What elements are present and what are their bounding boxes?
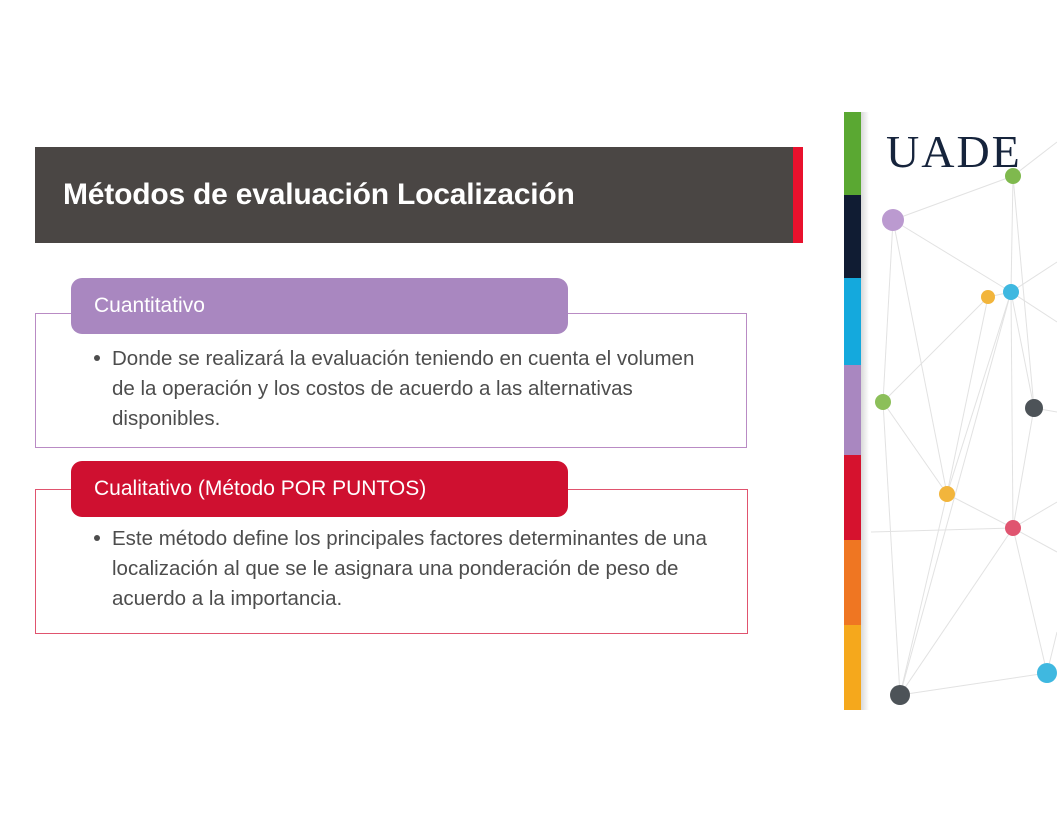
node-pink	[1005, 520, 1021, 536]
bullet-text: Donde se realizará la evaluación teniend…	[112, 347, 694, 430]
network-edge	[900, 292, 1011, 695]
bullet-dot-icon	[94, 355, 100, 361]
strip-segment-purple	[844, 365, 861, 455]
slide-canvas: Métodos de evaluación Localización Cuant…	[0, 0, 1057, 817]
title-banner-accent-bar	[793, 147, 803, 243]
network-edge	[883, 297, 988, 402]
content-block-qualitative: Cualitativo (Método POR PUNTOS) Este mét…	[35, 461, 749, 635]
node-gray-2	[890, 685, 910, 705]
network-edge	[900, 494, 947, 695]
network-edge	[900, 528, 1013, 695]
node-purple	[882, 209, 904, 231]
network-edge	[1013, 408, 1034, 528]
network-edge	[893, 176, 1013, 220]
brand-color-strip	[844, 112, 861, 710]
strip-segment-orange	[844, 540, 861, 625]
list-item: Este método define los principales facto…	[90, 524, 730, 614]
strip-segment-amber	[844, 625, 861, 710]
node-amber	[981, 290, 995, 304]
quantitative-heading: Cuantitativo	[71, 278, 568, 334]
network-edge	[947, 494, 1013, 528]
network-edge	[1011, 262, 1057, 292]
bullet-text: Este método define los principales facto…	[112, 527, 707, 610]
strip-segment-green	[844, 112, 861, 195]
qualitative-heading: Cualitativo (Método POR PUNTOS)	[71, 461, 568, 517]
network-edge	[883, 402, 947, 494]
node-amber-2	[939, 486, 955, 502]
list-item: Donde se realizará la evaluación teniend…	[90, 344, 710, 434]
strip-segment-navy	[844, 195, 861, 278]
network-graphic	[861, 112, 1057, 710]
node-green-2	[875, 394, 891, 410]
uade-logo: UADE	[886, 127, 1022, 177]
strip-segment-cyan	[844, 278, 861, 365]
qualitative-body: Este método define los principales facto…	[90, 524, 730, 614]
page-title: Métodos de evaluación Localización	[63, 147, 575, 243]
network-edge	[947, 292, 1011, 494]
network-edge	[893, 220, 947, 494]
network-edge	[1011, 176, 1013, 292]
network-edge	[1013, 528, 1047, 673]
network-edge	[900, 673, 1047, 695]
quantitative-body: Donde se realizará la evaluación teniend…	[90, 344, 710, 434]
network-edge	[1011, 292, 1034, 408]
bullet-dot-icon	[94, 535, 100, 541]
network-edge	[893, 220, 1011, 292]
content-block-quantitative: Cuantitativo Donde se realizará la evalu…	[35, 278, 747, 450]
node-cyan-1	[1003, 284, 1019, 300]
network-edge	[1011, 292, 1013, 528]
node-gray-1	[1025, 399, 1043, 417]
strip-segment-red	[844, 455, 861, 540]
network-edge	[883, 220, 893, 402]
network-edge	[1011, 292, 1057, 322]
network-edge	[947, 297, 988, 494]
network-edge	[883, 402, 900, 695]
network-edge	[871, 528, 1013, 532]
branding-panel: UADE	[843, 112, 1057, 710]
node-cyan-2	[1037, 663, 1057, 683]
slide-title-banner: Métodos de evaluación Localización	[35, 147, 803, 243]
